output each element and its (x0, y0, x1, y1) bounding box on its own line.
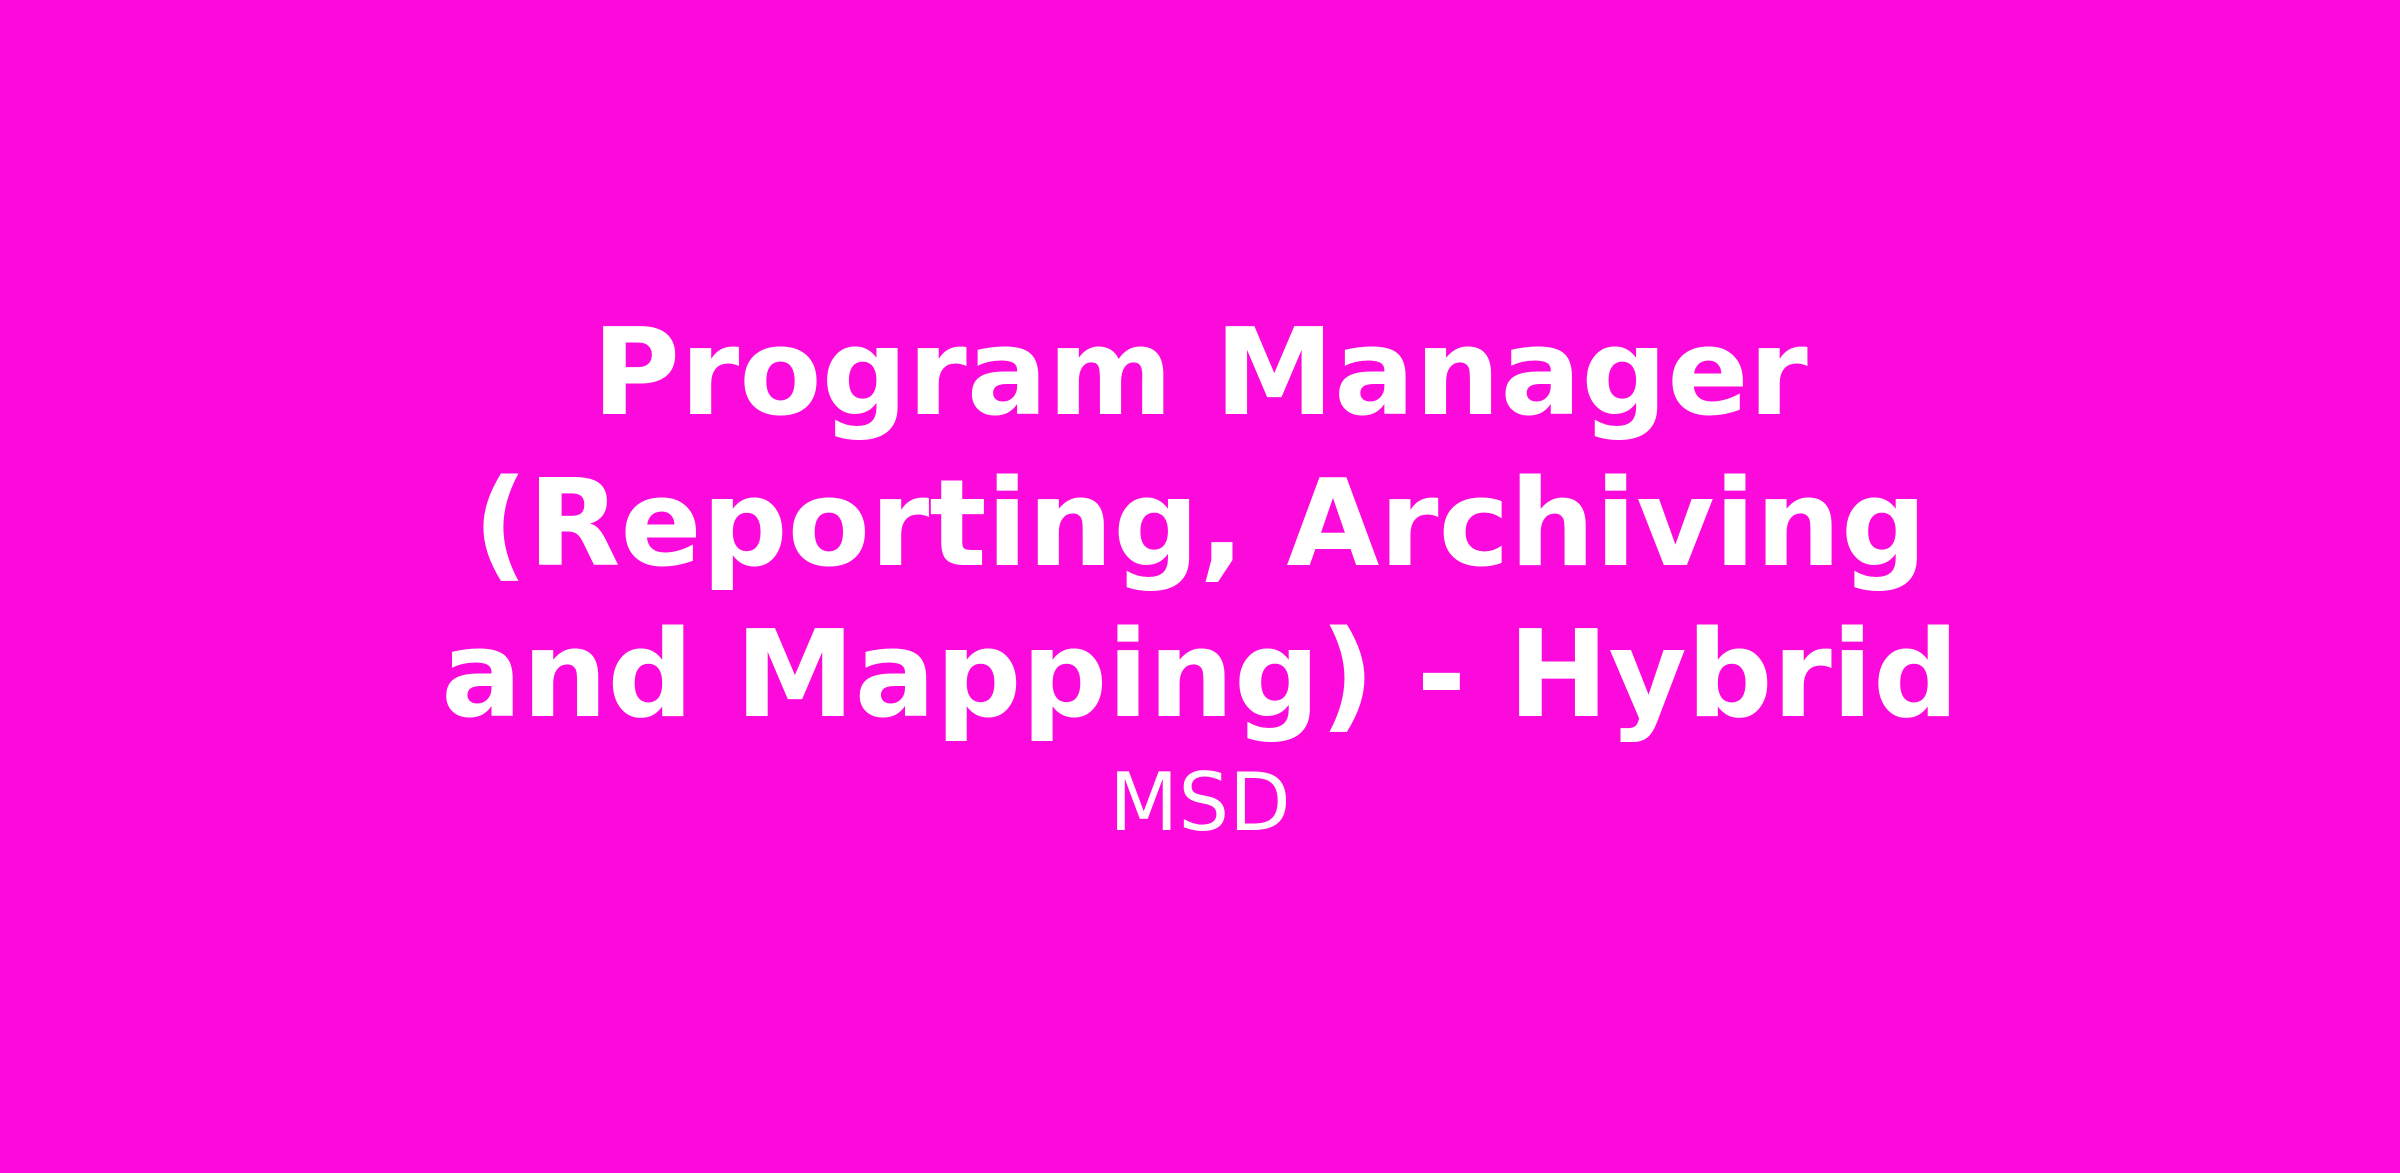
company-name: MSD (420, 751, 1980, 849)
job-title: Program Manager (Reporting, Archiving an… (420, 298, 1980, 752)
job-posting-text-block: Program Manager (Reporting, Archiving an… (420, 298, 1980, 850)
job-posting-hero: Program Manager (Reporting, Archiving an… (0, 0, 2400, 1173)
